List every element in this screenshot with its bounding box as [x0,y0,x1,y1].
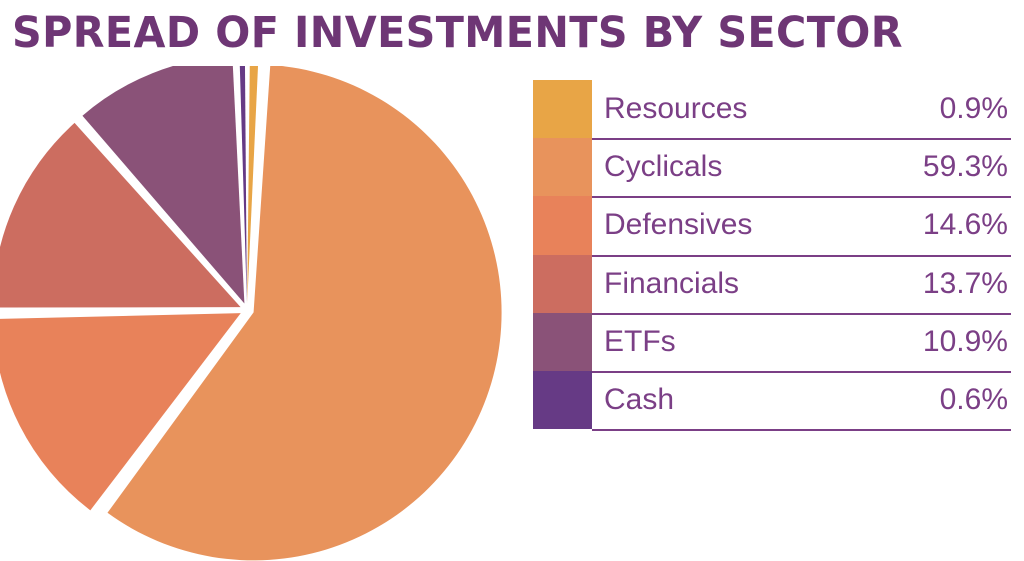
legend-row[interactable]: Cash0.6% [533,371,1011,429]
pie-chart-svg [0,66,510,561]
legend-table: Resources0.9%Cyclicals59.3%Defensives14.… [533,80,1011,431]
legend-value: 0.9% [940,92,1008,126]
legend-value: 0.6% [940,383,1008,417]
legend-row-body: Cyclicals59.3% [592,138,1011,196]
legend-label: Resources [604,92,747,126]
legend-color-swatch [533,138,592,196]
legend-value: 14.6% [923,208,1008,242]
legend-label: Defensives [604,208,752,242]
legend-color-swatch [533,255,592,313]
legend-color-swatch [533,313,592,371]
legend-row[interactable]: ETFs10.9% [533,313,1011,371]
legend-row-body: Cash0.6% [592,371,1011,429]
legend-label: Cyclicals [604,150,722,184]
legend-color-swatch [533,371,592,429]
legend-value: 13.7% [923,267,1008,301]
legend-label: Cash [604,383,674,417]
pie-chart [0,66,510,561]
legend-value: 10.9% [923,325,1008,359]
legend-row[interactable]: Defensives14.6% [533,196,1011,254]
legend-row-body: Resources0.9% [592,80,1011,138]
legend-row-body: Financials13.7% [592,255,1011,313]
legend-row[interactable]: Cyclicals59.3% [533,138,1011,196]
legend-row[interactable]: Resources0.9% [533,80,1011,138]
legend-value: 59.3% [923,150,1008,184]
legend-row-body: ETFs10.9% [592,313,1011,371]
legend-label: ETFs [604,325,676,359]
legend-bottom-rule [592,429,1011,431]
legend-row[interactable]: Financials13.7% [533,255,1011,313]
pie-slice-group [0,66,502,560]
legend-label: Financials [604,267,739,301]
legend-color-swatch [533,196,592,254]
page-title: SPREAD OF INVESTMENTS BY SECTOR [12,6,903,60]
legend-row-body: Defensives14.6% [592,196,1011,254]
legend-color-swatch [533,80,592,138]
